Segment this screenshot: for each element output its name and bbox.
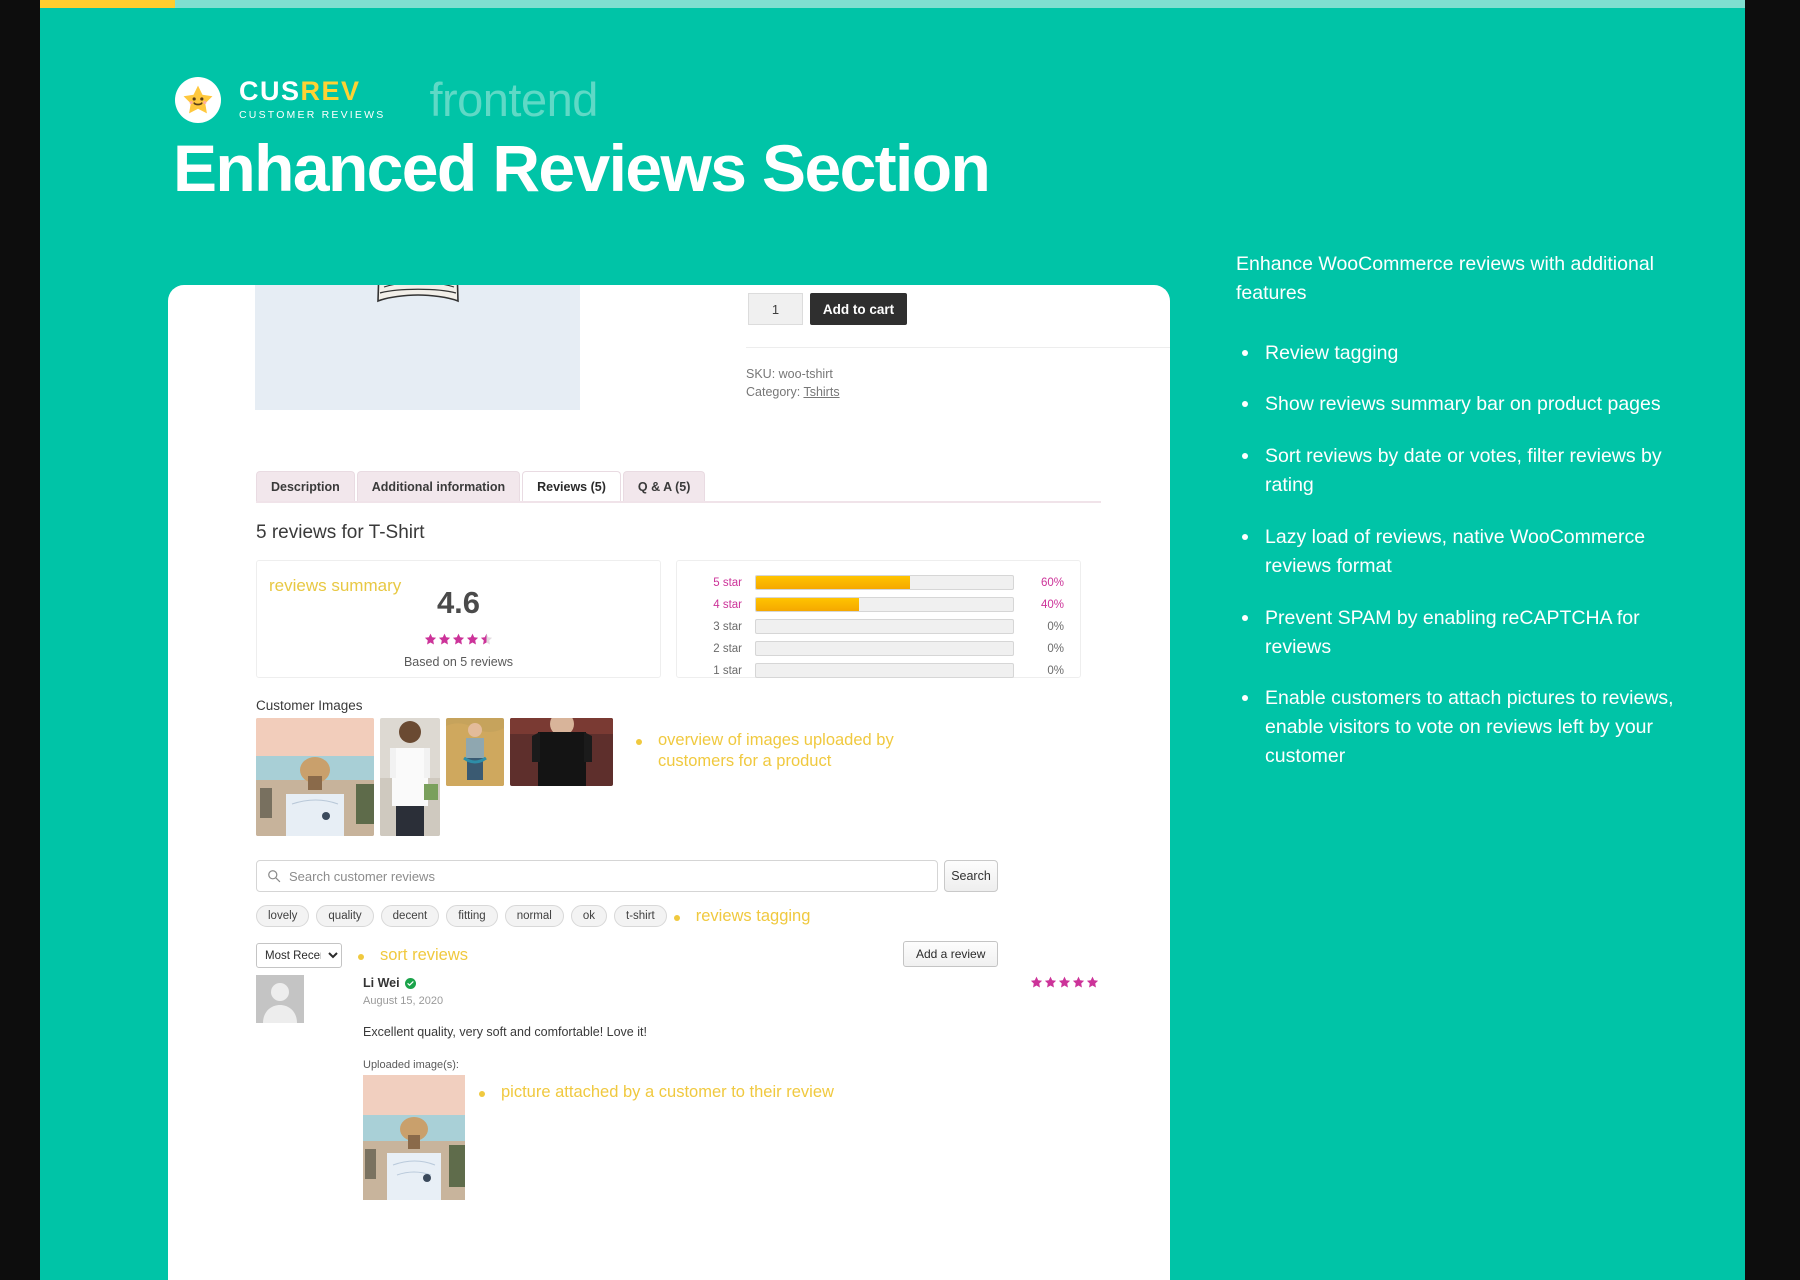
tab-description[interactable]: Description <box>256 471 355 502</box>
progress-track <box>40 0 1745 8</box>
category-link[interactable]: Tshirts <box>803 385 839 399</box>
average-stars <box>257 633 660 651</box>
rating-bar-row[interactable]: 3 star 0% <box>693 617 1064 636</box>
review-stars <box>1030 976 1099 994</box>
avatar <box>256 975 304 1023</box>
rating-bar-row[interactable]: 4 star 40% <box>693 595 1064 614</box>
reviews-heading: 5 reviews for T-Shirt <box>256 522 425 544</box>
review-author: Li Wei <box>363 976 416 990</box>
star-icon <box>438 633 451 646</box>
rating-bar-label: 4 star <box>693 599 755 611</box>
rating-bar-track <box>755 619 1014 634</box>
tag-chip[interactable]: ok <box>571 905 607 927</box>
review-tags-row: lovely quality decent fitting normal ok … <box>256 905 810 927</box>
tab-additional-information[interactable]: Additional information <box>357 471 520 502</box>
sort-select[interactable]: Most Recent Most Voted Highest Rating Lo… <box>256 943 342 968</box>
annotation-customer-images: overview of images uploaded by customers… <box>658 730 958 773</box>
customer-image-thumb[interactable] <box>380 718 440 836</box>
divider <box>746 347 1170 348</box>
tab-reviews[interactable]: Reviews (5) <box>522 471 621 502</box>
review-search-row: Search <box>256 860 998 892</box>
slide-stage: CUSREV CUSTOMER REVIEWS frontend Enhance… <box>0 0 1800 1280</box>
annotation-attached-picture: picture attached by a customer to their … <box>501 1083 834 1102</box>
rating-bar-track <box>755 575 1014 590</box>
annotation-sort-reviews: sort reviews <box>380 946 468 965</box>
section-label: frontend <box>429 72 597 127</box>
rating-bar-track <box>755 641 1014 656</box>
page-title: Enhanced Reviews Section <box>173 130 989 206</box>
verified-check-icon <box>405 978 416 989</box>
progress-fill <box>40 0 175 8</box>
star-badge-icon <box>175 77 221 123</box>
review-date: August 15, 2020 <box>363 995 443 1007</box>
list-item: Show reviews summary bar on product page… <box>1236 390 1686 419</box>
search-button[interactable]: Search <box>944 860 998 892</box>
average-score: 4.6 <box>257 585 660 621</box>
list-item: Enable customers to attach pictures to r… <box>1236 684 1686 771</box>
search-field-wrap[interactable] <box>256 860 938 892</box>
list-item: Lazy load of reviews, native WooCommerce… <box>1236 523 1686 581</box>
rating-bar-label: 3 star <box>693 621 755 633</box>
rating-bar-row[interactable]: 5 star 60% <box>693 573 1064 592</box>
star-half-icon <box>480 633 493 646</box>
brand-rev: REV <box>301 76 361 106</box>
rating-bar-track <box>755 597 1014 612</box>
product-tabs: Description Additional information Revie… <box>256 471 707 502</box>
sort-row: Most Recent Most Voted Highest Rating Lo… <box>256 943 468 968</box>
brand-lockup: CUSREV CUSTOMER REVIEWS frontend <box>175 72 598 127</box>
product-page-screenshot: 1 Add to cart SKU: woo-tshirt Category: … <box>168 285 1170 1280</box>
star-icon <box>1044 976 1057 989</box>
quantity-stepper[interactable]: 1 <box>748 293 803 325</box>
customer-image-thumb[interactable] <box>446 718 504 786</box>
tag-chip[interactable]: t-shirt <box>614 905 667 927</box>
rating-bar-label: 2 star <box>693 643 755 655</box>
review-uploaded-image[interactable] <box>363 1075 465 1200</box>
tag-chip[interactable]: normal <box>505 905 564 927</box>
product-meta: SKU: woo-tshirt Category: Tshirts <box>746 365 840 401</box>
list-item: Sort reviews by date or votes, filter re… <box>1236 442 1686 500</box>
teal-slide: CUSREV CUSTOMER REVIEWS frontend Enhance… <box>40 0 1745 1280</box>
star-icon <box>452 633 465 646</box>
rating-bar-row[interactable]: 2 star 0% <box>693 639 1064 658</box>
rating-bar-value: 60% <box>1014 577 1064 589</box>
list-item: Prevent SPAM by enabling reCAPTCHA for r… <box>1236 604 1686 662</box>
rating-bar-label: 5 star <box>693 577 755 589</box>
star-icon <box>466 633 479 646</box>
star-icon <box>1030 976 1043 989</box>
rating-bar-row[interactable]: 1 star 0% <box>693 661 1064 680</box>
customer-images-strip <box>256 718 613 836</box>
feature-list: Review tagging Show reviews summary bar … <box>1236 339 1686 771</box>
annotation-reviews-tagging: reviews tagging <box>696 907 811 926</box>
customer-image-thumb[interactable] <box>256 718 374 836</box>
rating-distribution-chart: 5 star 60% 4 star 40% 3 star 0% <box>676 560 1081 678</box>
customer-images-label: Customer Images <box>256 698 363 713</box>
sku-line: SKU: woo-tshirt <box>746 365 840 383</box>
reviews-summary-box: reviews summary 4.6 <box>256 560 661 678</box>
tag-chip[interactable]: decent <box>381 905 440 927</box>
star-icon <box>1058 976 1071 989</box>
tag-chip[interactable]: fitting <box>446 905 498 927</box>
rating-bar-value: 0% <box>1014 665 1064 677</box>
rating-bar-label: 1 star <box>693 665 755 677</box>
product-image[interactable] <box>255 285 580 410</box>
search-icon <box>267 869 281 883</box>
star-icon <box>1086 976 1099 989</box>
rating-bar-track <box>755 663 1014 678</box>
tag-chip[interactable]: quality <box>316 905 373 927</box>
tab-qa[interactable]: Q & A (5) <box>623 471 706 502</box>
brand-wordmark: CUSREV CUSTOMER REVIEWS <box>239 78 385 121</box>
brand-subtitle: CUSTOMER REVIEWS <box>239 110 385 121</box>
review-text: Excellent quality, very soft and comfort… <box>363 1025 647 1039</box>
add-to-cart-button[interactable]: Add to cart <box>810 293 907 325</box>
category-line: Category: Tshirts <box>746 383 840 401</box>
based-on-label: Based on 5 reviews <box>257 655 660 669</box>
uploaded-images-label: Uploaded image(s): <box>363 1059 459 1071</box>
copy-lead: Enhance WooCommerce reviews with additio… <box>1236 250 1686 309</box>
feature-copy: Enhance WooCommerce reviews with additio… <box>1236 250 1686 794</box>
rating-bar-value: 0% <box>1014 643 1064 655</box>
tabs-underline <box>256 501 1101 503</box>
rating-bar-value: 40% <box>1014 599 1064 611</box>
brand-cus: CUS <box>239 76 301 106</box>
add-review-button[interactable]: Add a review <box>903 941 998 967</box>
rating-bar-value: 0% <box>1014 621 1064 633</box>
star-icon <box>424 633 437 646</box>
customer-image-thumb[interactable] <box>510 718 613 786</box>
star-icon <box>1072 976 1085 989</box>
list-item: Review tagging <box>1236 339 1686 368</box>
tag-chip[interactable]: lovely <box>256 905 309 927</box>
search-input[interactable] <box>289 869 927 884</box>
